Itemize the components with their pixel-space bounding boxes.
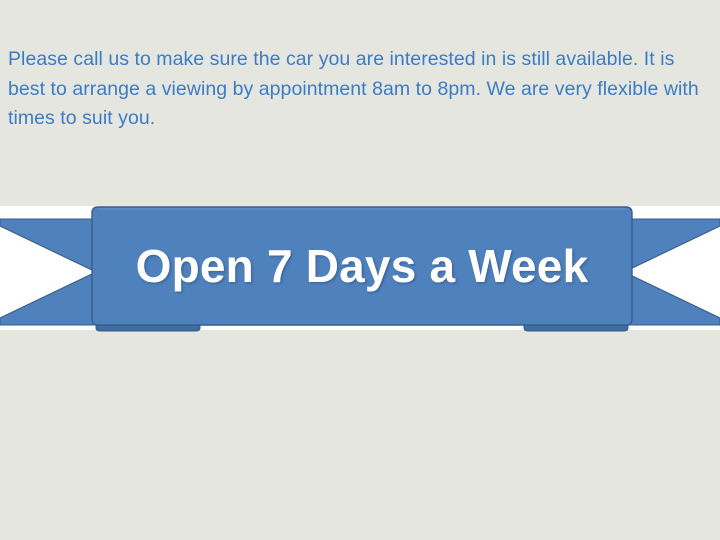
ribbon-main-panel <box>92 207 632 325</box>
body-paragraph: Please call us to make sure the car you … <box>8 45 708 134</box>
slide-canvas: Please call us to make sure the car you … <box>0 0 720 540</box>
ribbon-graphic <box>0 195 720 340</box>
ribbon-banner: Open 7 Days a Week <box>0 195 720 340</box>
